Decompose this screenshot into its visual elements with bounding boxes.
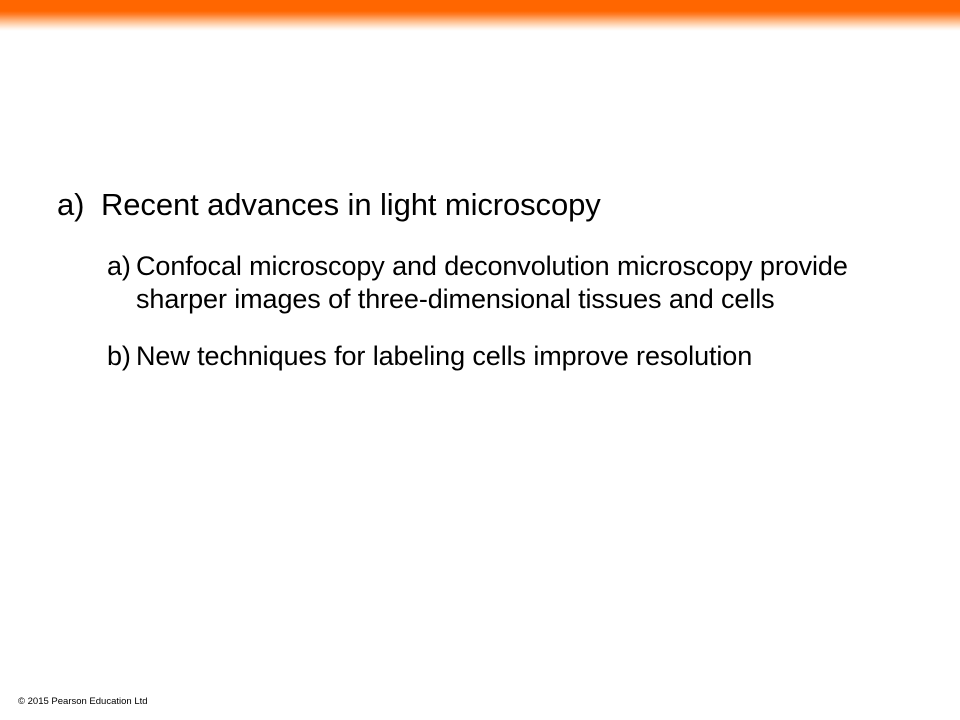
list-item-marker: a) [107,250,136,283]
slide-sublist: a) Confocal microscopy and deconvolution… [107,250,907,373]
slide-heading-text: Recent advances in light microscopy [101,186,601,224]
slide-heading-marker: a) [57,186,101,224]
slide-content: a) Recent advances in light microscopy a… [0,0,960,720]
list-item-text: Confocal microscopy and deconvolution mi… [136,250,907,316]
list-item: b) New techniques for labeling cells imp… [107,340,907,373]
list-item-text: New techniques for labeling cells improv… [136,340,907,373]
footer-copyright: © 2015 Pearson Education Ltd [18,696,148,708]
list-item-marker: b) [107,340,136,373]
list-item: a) Confocal microscopy and deconvolution… [107,250,907,316]
slide-heading: a) Recent advances in light microscopy [57,186,601,224]
